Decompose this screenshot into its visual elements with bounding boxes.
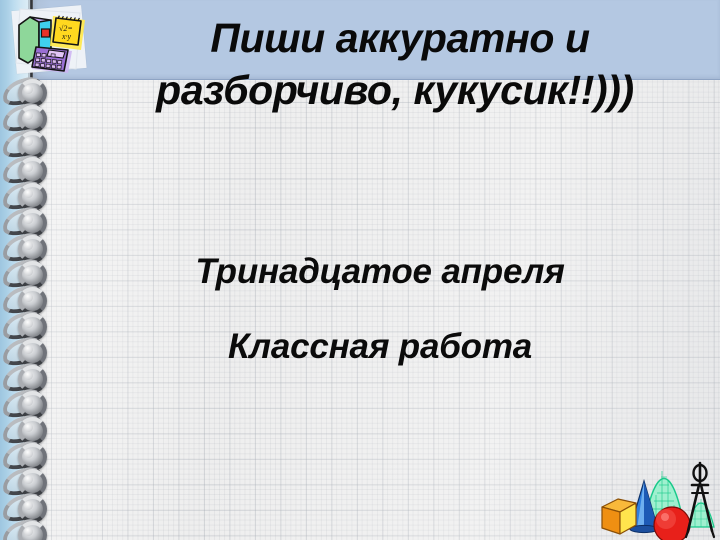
binding-ring — [2, 442, 48, 464]
binding-ring — [2, 208, 48, 230]
binding-ring-hole — [24, 267, 33, 276]
slide-canvas: √2= x·y — [0, 0, 720, 540]
binding-ring — [2, 286, 48, 308]
title-line-1: Пиши аккуратно и — [86, 12, 714, 64]
binding-ring-hole — [24, 527, 33, 536]
binding-ring-hole — [24, 241, 33, 250]
binding-ring — [2, 416, 48, 438]
spiral-binding — [0, 0, 58, 540]
binding-ring-hole — [24, 163, 33, 172]
binding-ring-hole — [24, 475, 33, 484]
binding-ring — [2, 494, 48, 516]
binding-ring-hole — [24, 189, 33, 198]
binding-ring-hole — [24, 111, 33, 120]
body-line-date: Тринадцатое апреля — [60, 234, 700, 309]
binding-ring-hole — [24, 215, 33, 224]
body-line-classwork: Классная работа — [60, 309, 700, 384]
binding-ring-hole — [24, 501, 33, 510]
binding-ring — [2, 156, 48, 178]
binding-ring-hole — [24, 85, 33, 94]
binding-ring — [2, 390, 48, 412]
binding-ring-hole — [24, 371, 33, 380]
binding-ring-hole — [24, 137, 33, 146]
binding-ring — [2, 364, 48, 386]
title-line-2: разборчиво, кукусик!!))) — [76, 64, 714, 116]
binding-ring-hole — [24, 293, 33, 302]
slide-body: Тринадцатое апреля Классная работа — [60, 234, 700, 384]
binding-ring-hole — [24, 397, 33, 406]
binding-ring — [2, 338, 48, 360]
binding-ring — [2, 104, 48, 126]
geometry-solids-icon — [596, 455, 720, 540]
binding-ring — [2, 182, 48, 204]
svg-text:x·y: x·y — [61, 32, 72, 41]
binding-ring — [2, 78, 48, 100]
binding-ring-hole — [24, 319, 33, 328]
red-sphere — [654, 507, 690, 540]
binding-ring — [2, 312, 48, 334]
binding-ring — [2, 468, 48, 490]
binding-ring — [2, 130, 48, 152]
slide-title: Пиши аккуратно и разборчиво, кукусик!!))… — [86, 12, 714, 116]
binding-ring-hole — [24, 345, 33, 354]
binding-ring-hole — [24, 449, 33, 458]
binding-ring — [2, 520, 48, 540]
binding-ring — [2, 234, 48, 256]
binding-ring-hole — [24, 423, 33, 432]
geometry-solids-clipart — [596, 455, 720, 540]
binding-ring — [2, 260, 48, 282]
